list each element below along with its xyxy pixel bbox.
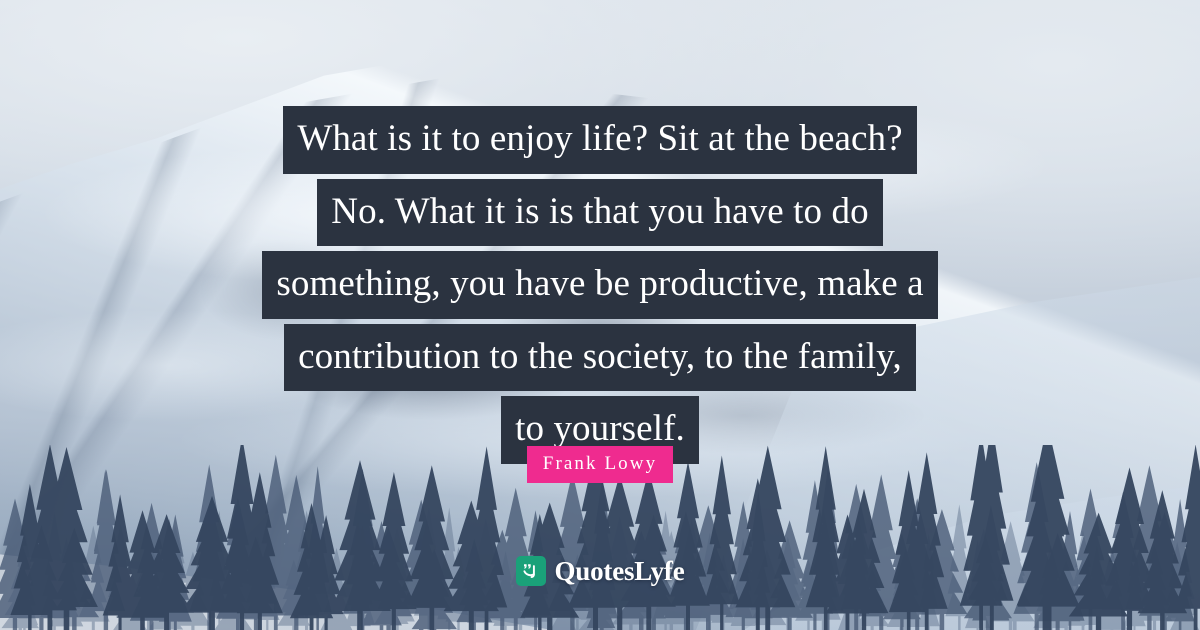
- quote-text-block: What is it to enjoy life? Sit at the bea…: [0, 106, 1200, 469]
- quote-card: What is it to enjoy life? Sit at the bea…: [0, 0, 1200, 630]
- quote-line-wrap: What is it to enjoy life? Sit at the bea…: [0, 106, 1200, 174]
- author-name-badge[interactable]: Frank Lowy: [527, 446, 673, 483]
- quote-line-wrap: something, you have be productive, make …: [0, 251, 1200, 319]
- quote-line: No. What it is is that you have to do: [317, 179, 882, 247]
- brand-logo[interactable]: QuotesLyfe: [0, 556, 1200, 586]
- quote-line: contribution to the society, to the fami…: [284, 324, 916, 392]
- quote-smiley-icon: [516, 556, 546, 586]
- brand-wordmark: QuotesLyfe: [555, 558, 685, 585]
- quote-line-wrap: No. What it is is that you have to do: [0, 179, 1200, 247]
- quote-line-wrap: contribution to the society, to the fami…: [0, 324, 1200, 392]
- author-badge-wrapper: Frank Lowy: [0, 446, 1200, 483]
- quote-line: What is it to enjoy life? Sit at the bea…: [283, 106, 916, 174]
- quote-line: something, you have be productive, make …: [262, 251, 937, 319]
